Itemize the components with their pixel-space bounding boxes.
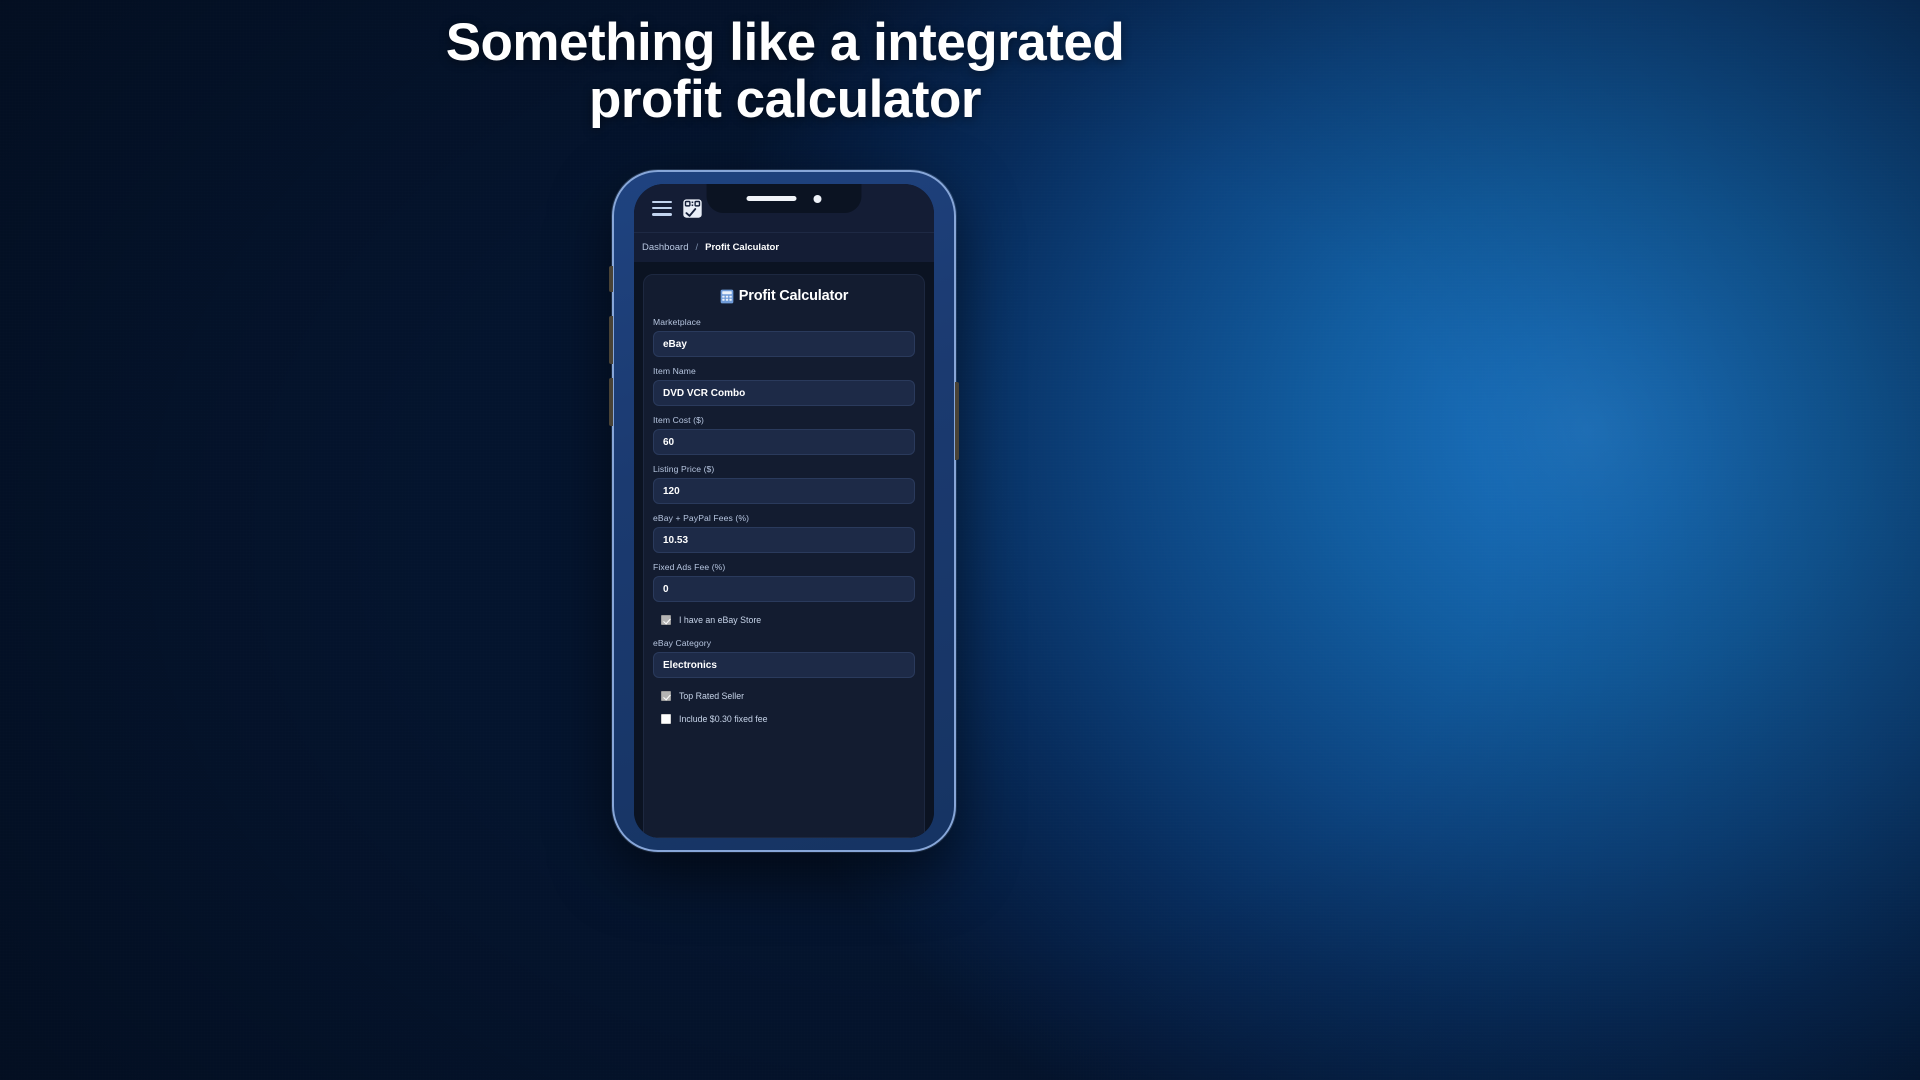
calculator-icon — [720, 289, 734, 304]
headline-line-2: profit calculator — [0, 71, 1570, 128]
field-label-item-cost: Item Cost ($) — [653, 415, 915, 425]
fees-percent-input[interactable] — [653, 527, 915, 553]
page-title: Something like a integrated profit calcu… — [0, 14, 1570, 128]
checkbox-ebay-store[interactable] — [661, 615, 671, 625]
field-fixed-ads-fee: Fixed Ads Fee (%) — [653, 562, 915, 602]
checkbox-label-fixed-fee: Include $0.30 fixed fee — [679, 714, 768, 724]
field-label-item-name: Item Name — [653, 366, 915, 376]
field-ebay-category: eBay Category — [653, 638, 915, 678]
listing-price-input[interactable] — [653, 478, 915, 504]
checkbox-row-fixed-fee[interactable]: Include $0.30 fixed fee — [661, 714, 915, 724]
ebay-category-input[interactable] — [653, 652, 915, 678]
card-title-row: Profit Calculator — [653, 288, 915, 304]
notch-camera-icon — [814, 195, 822, 203]
checkbox-top-rated-seller[interactable] — [661, 691, 671, 701]
field-fees-percent: eBay + PayPal Fees (%) — [653, 513, 915, 553]
field-label-ebay-category: eBay Category — [653, 638, 915, 648]
hamburger-menu-icon[interactable] — [652, 201, 672, 216]
page-background — [0, 0, 1920, 1080]
phone-silence-switch[interactable] — [609, 266, 613, 292]
phone-mockup: Dashboard / Profit Calculator — [612, 170, 956, 852]
field-item-cost: Item Cost ($) — [653, 415, 915, 455]
breadcrumb-separator: / — [695, 242, 698, 253]
field-listing-price: Listing Price ($) — [653, 464, 915, 504]
phone-power-button[interactable] — [955, 382, 959, 460]
field-item-name: Item Name — [653, 366, 915, 406]
app-topbar — [634, 184, 934, 232]
headline-line-1: Something like a integrated — [0, 14, 1570, 71]
fixed-ads-fee-input[interactable] — [653, 576, 915, 602]
qr-check-icon[interactable] — [682, 198, 703, 219]
item-cost-input[interactable] — [653, 429, 915, 455]
profit-calculator-card: Profit Calculator Marketplace Item Name … — [643, 274, 925, 838]
checkbox-fixed-fee[interactable] — [661, 714, 671, 724]
field-label-fixed-ads-fee: Fixed Ads Fee (%) — [653, 562, 915, 572]
app-body: Profit Calculator Marketplace Item Name … — [634, 262, 934, 838]
phone-volume-down-button[interactable] — [609, 378, 613, 426]
card-title-text: Profit Calculator — [739, 288, 848, 304]
marketplace-input[interactable] — [653, 331, 915, 357]
field-label-marketplace: Marketplace — [653, 317, 915, 327]
checkbox-label-top-rated-seller: Top Rated Seller — [679, 691, 744, 701]
item-name-input[interactable] — [653, 380, 915, 406]
checkbox-row-ebay-store[interactable]: I have an eBay Store — [661, 615, 915, 625]
breadcrumb-item-current: Profit Calculator — [705, 242, 779, 253]
field-marketplace: Marketplace — [653, 317, 915, 357]
field-label-fees-percent: eBay + PayPal Fees (%) — [653, 513, 915, 523]
notch-speaker — [747, 196, 797, 201]
checkbox-row-top-rated-seller[interactable]: Top Rated Seller — [661, 691, 915, 701]
breadcrumb-item-dashboard[interactable]: Dashboard — [642, 242, 688, 253]
phone-volume-up-button[interactable] — [609, 316, 613, 364]
phone-screen: Dashboard / Profit Calculator — [634, 184, 934, 838]
field-label-listing-price: Listing Price ($) — [653, 464, 915, 474]
checkbox-label-ebay-store: I have an eBay Store — [679, 615, 761, 625]
phone-notch — [707, 184, 862, 213]
breadcrumb: Dashboard / Profit Calculator — [634, 232, 934, 262]
